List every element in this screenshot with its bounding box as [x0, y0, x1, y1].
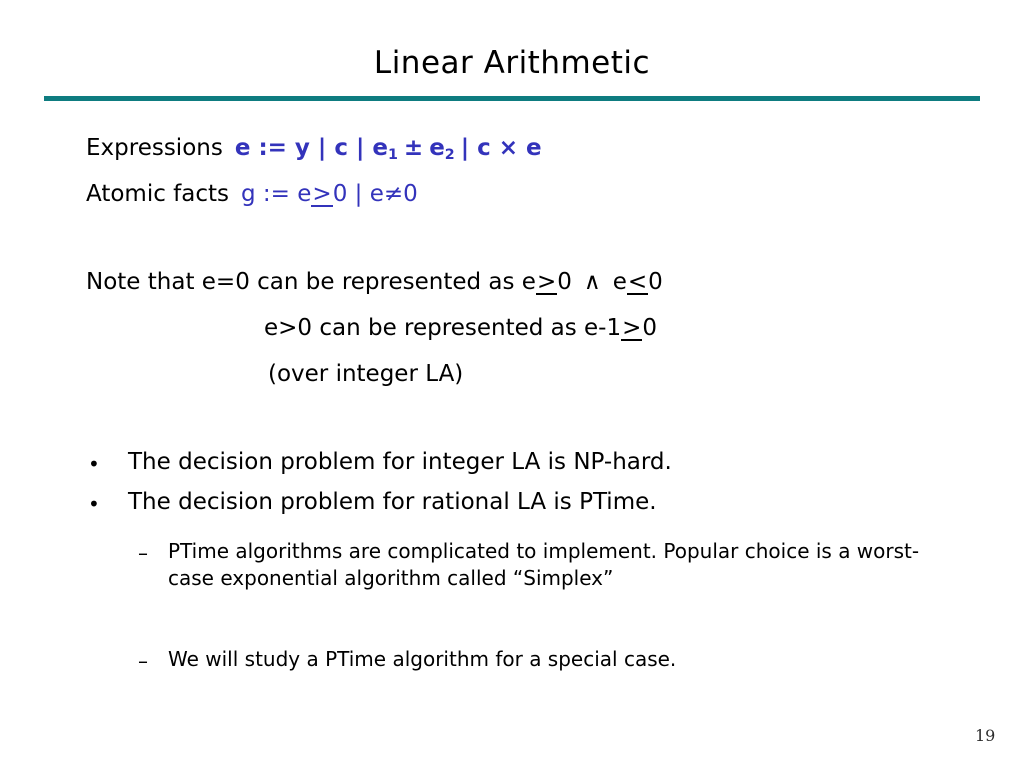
expressions-operator: ±: [404, 135, 423, 161]
greater-equal-icon: >: [536, 268, 557, 297]
note2-text-b: 0: [642, 315, 657, 341]
bullet-marker: •: [88, 452, 100, 476]
note1-text-d: 0: [648, 269, 663, 295]
bullet-marker: •: [88, 492, 100, 516]
atomic-rule-mid: 0 | e: [333, 181, 384, 207]
note-line-2: e>0 can be represented as e-1>0: [264, 314, 657, 343]
title-divider: [44, 96, 980, 101]
expressions-label: Expressions: [86, 135, 223, 161]
greater-equal-icon: >: [621, 314, 642, 343]
atomic-facts-rule: g := e>0 | e≠0: [241, 181, 418, 207]
expressions-e2: e: [429, 135, 445, 161]
page-number: 19: [975, 726, 995, 745]
note1-text-b: 0: [557, 269, 572, 295]
note-line-3: (over integer LA): [268, 360, 463, 389]
list-item: The decision problem for integer LA is N…: [128, 449, 672, 475]
list-item: The decision problem for rational LA is …: [128, 489, 657, 515]
atomic-rule-g: g := e: [241, 181, 311, 207]
note1-text-a: Note that e=0 can be represented as e: [86, 269, 536, 295]
sub-bullet-marker: –: [138, 649, 148, 673]
less-equal-icon: <: [627, 268, 648, 297]
sub-list-item: PTime algorithms are complicated to impl…: [168, 538, 958, 591]
expressions-line: Expressionse := y | c | e1±e2| c × e: [86, 134, 542, 163]
logical-and-icon: ∧: [584, 269, 601, 295]
sub-bullet-marker: –: [138, 541, 148, 565]
note1-text-c: e: [613, 269, 627, 295]
greater-equal-icon: >: [311, 180, 332, 209]
sub-list-item: We will study a PTime algorithm for a sp…: [168, 646, 958, 673]
note2-text-a: e>0 can be represented as e-1: [264, 315, 621, 341]
atomic-facts-label: Atomic facts: [86, 181, 229, 207]
expressions-rule: e := y | c | e1±e2| c × e: [235, 135, 542, 161]
note-line-1: Note that e=0 can be represented as e>0∧…: [86, 268, 663, 297]
page-title: Linear Arithmetic: [0, 46, 1024, 80]
atomic-facts-line: Atomic factsg := e>0 | e≠0: [86, 180, 418, 209]
atomic-rule-neq: ≠0: [384, 181, 418, 207]
expressions-rule-prefix: e := y | c | e: [235, 135, 388, 161]
expressions-subscript-1: 1: [388, 147, 398, 163]
expressions-subscript-2: 2: [445, 147, 455, 163]
expressions-rule-suffix: | c × e: [461, 135, 542, 161]
